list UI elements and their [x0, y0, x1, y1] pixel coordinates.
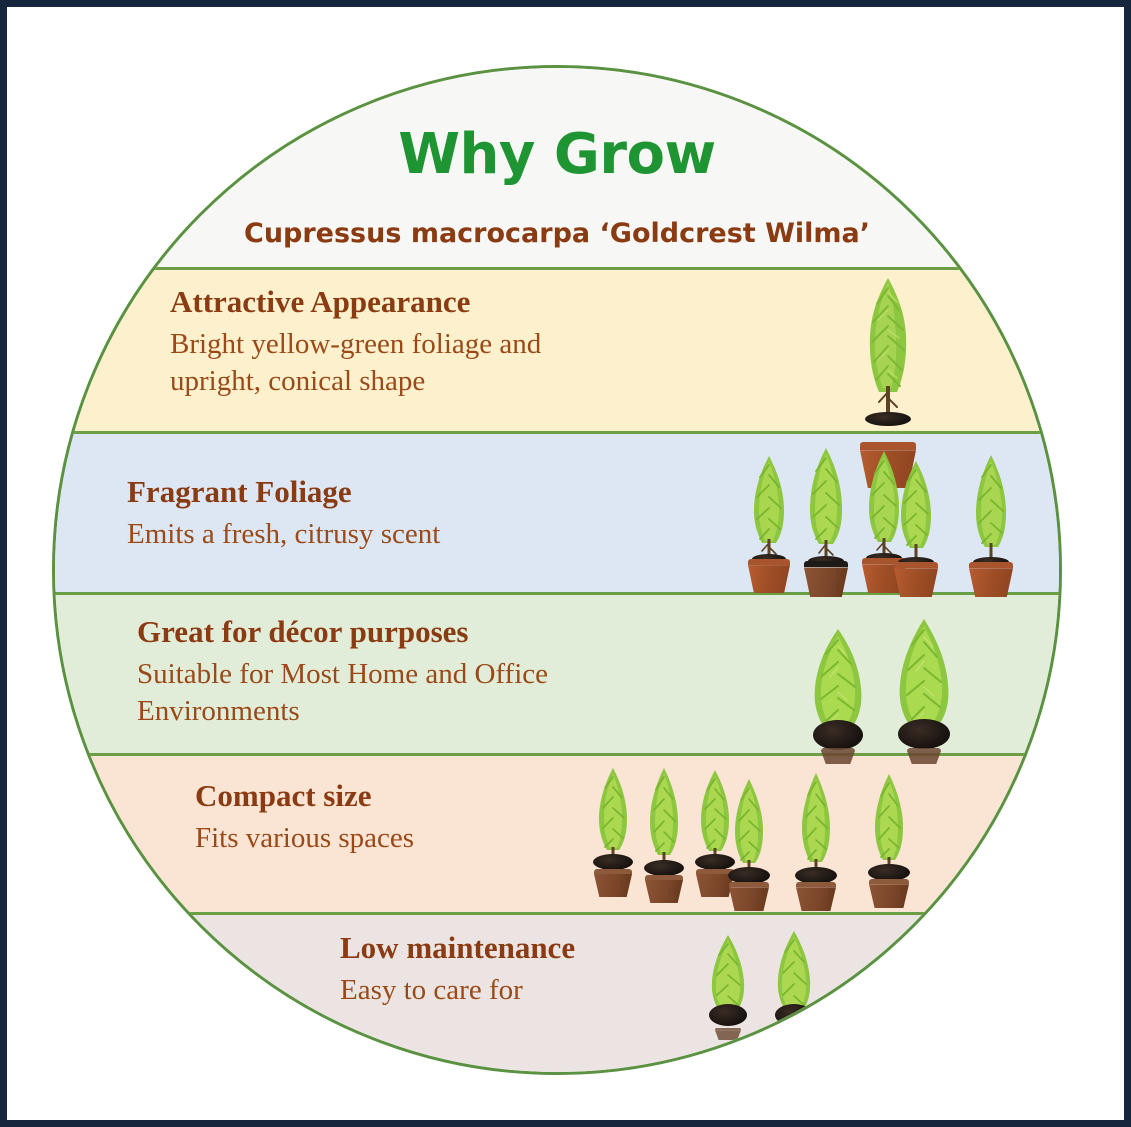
conifer-foliage-icon — [585, 765, 641, 863]
plant-photo-decor-purposes — [800, 616, 964, 764]
row-text-compact-size: Compact size Fits various spaces — [195, 778, 414, 857]
row-description-line: Fits various spaces — [195, 820, 414, 857]
row-title: Fragrant Foliage — [127, 474, 440, 511]
potted-conifer-icon — [800, 626, 876, 764]
conifer-foliage-icon — [766, 928, 822, 1016]
pot-soil — [593, 854, 633, 870]
potted-conifer-icon — [700, 932, 756, 1040]
row-description-line: upright, conical shape — [170, 363, 541, 400]
terracotta-pot-icon — [729, 882, 769, 911]
row-title: Compact size — [195, 778, 414, 815]
conifer-foliage-icon — [800, 626, 876, 734]
conifer-foliage-icon — [786, 770, 846, 876]
terracotta-pot-icon — [869, 879, 909, 908]
potted-conifer-icon — [885, 458, 947, 597]
dark-pot-icon — [715, 1028, 741, 1040]
conifer-foliage-icon — [885, 458, 947, 564]
terracotta-pot-icon — [645, 875, 683, 903]
row-description-line: Emits a fresh, citrusy scent — [127, 516, 440, 553]
pot-soil — [813, 720, 863, 750]
conifer-foliage-icon — [792, 445, 860, 563]
potted-conifer-icon — [786, 770, 846, 911]
plant-photo-low-maintenance — [700, 928, 822, 1040]
pot-soil — [865, 412, 911, 426]
potted-conifer-icon — [860, 771, 918, 908]
plant-photo-compact-size-group-b — [720, 770, 846, 911]
conifer-foliage-icon — [720, 776, 778, 876]
potted-conifer-icon — [720, 776, 778, 911]
potted-conifer-icon — [585, 765, 641, 897]
conifer-foliage-icon — [959, 452, 1023, 564]
dark-pot-icon — [821, 748, 855, 764]
row-text-decor-purposes: Great for décor purposes Suitable for Mo… — [137, 614, 548, 730]
potted-conifer-icon — [959, 452, 1023, 597]
row-description-line: Environments — [137, 693, 548, 730]
row-text-low-maintenance: Low maintenance Easy to care for — [340, 930, 575, 1009]
plant-photo-compact-size-group-c — [860, 771, 918, 908]
page-title: Why Grow — [52, 122, 1062, 187]
terracotta-pot-icon — [894, 562, 938, 597]
pot-soil — [709, 1004, 747, 1026]
potted-conifer-icon — [738, 453, 800, 593]
dark-pot-icon — [781, 1028, 807, 1040]
infographic-page: Why Grow Cupressus macrocarpa ‘Goldcrest… — [0, 0, 1131, 1127]
page-subtitle: Cupressus macrocarpa ‘Goldcrest Wilma’ — [52, 218, 1062, 249]
row-description-line: Easy to care for — [340, 972, 575, 1009]
row-title: Great for décor purposes — [137, 614, 548, 651]
pot-soil — [775, 1004, 813, 1026]
terracotta-pot-icon — [594, 869, 632, 897]
dark-pot-icon — [907, 748, 941, 764]
potted-conifer-icon — [792, 445, 860, 597]
pot-soil — [644, 860, 684, 876]
conifer-foliage-icon — [884, 616, 964, 734]
terracotta-pot-icon — [969, 562, 1013, 597]
plant-photo-fragrant-foliage-group-b — [885, 452, 1023, 597]
row-description-line: Suitable for Most Home and Office — [137, 656, 548, 693]
conifer-foliage-icon — [738, 453, 800, 561]
header-band: Why Grow Cupressus macrocarpa ‘Goldcrest… — [52, 68, 1062, 267]
terracotta-pot-icon — [748, 559, 790, 593]
terracotta-pot-icon — [796, 882, 836, 911]
potted-conifer-icon — [635, 765, 693, 903]
row-description-line: Bright yellow-green foliage and — [170, 326, 541, 363]
terracotta-pot-icon — [804, 561, 848, 597]
row-text-attractive-appearance: Attractive Appearance Bright yellow-gree… — [170, 284, 541, 400]
potted-conifer-icon — [766, 928, 822, 1040]
conifer-foliage-icon — [860, 771, 918, 873]
conifer-foliage-icon — [635, 765, 693, 869]
potted-conifer-icon — [884, 616, 964, 764]
row-title: Attractive Appearance — [170, 284, 541, 321]
why-grow-circle: Why Grow Cupressus macrocarpa ‘Goldcrest… — [52, 65, 1062, 1075]
row-title: Low maintenance — [340, 930, 575, 967]
pot-soil — [898, 719, 950, 749]
row-text-fragrant-foliage: Fragrant Foliage Emits a fresh, citrusy … — [127, 474, 440, 553]
